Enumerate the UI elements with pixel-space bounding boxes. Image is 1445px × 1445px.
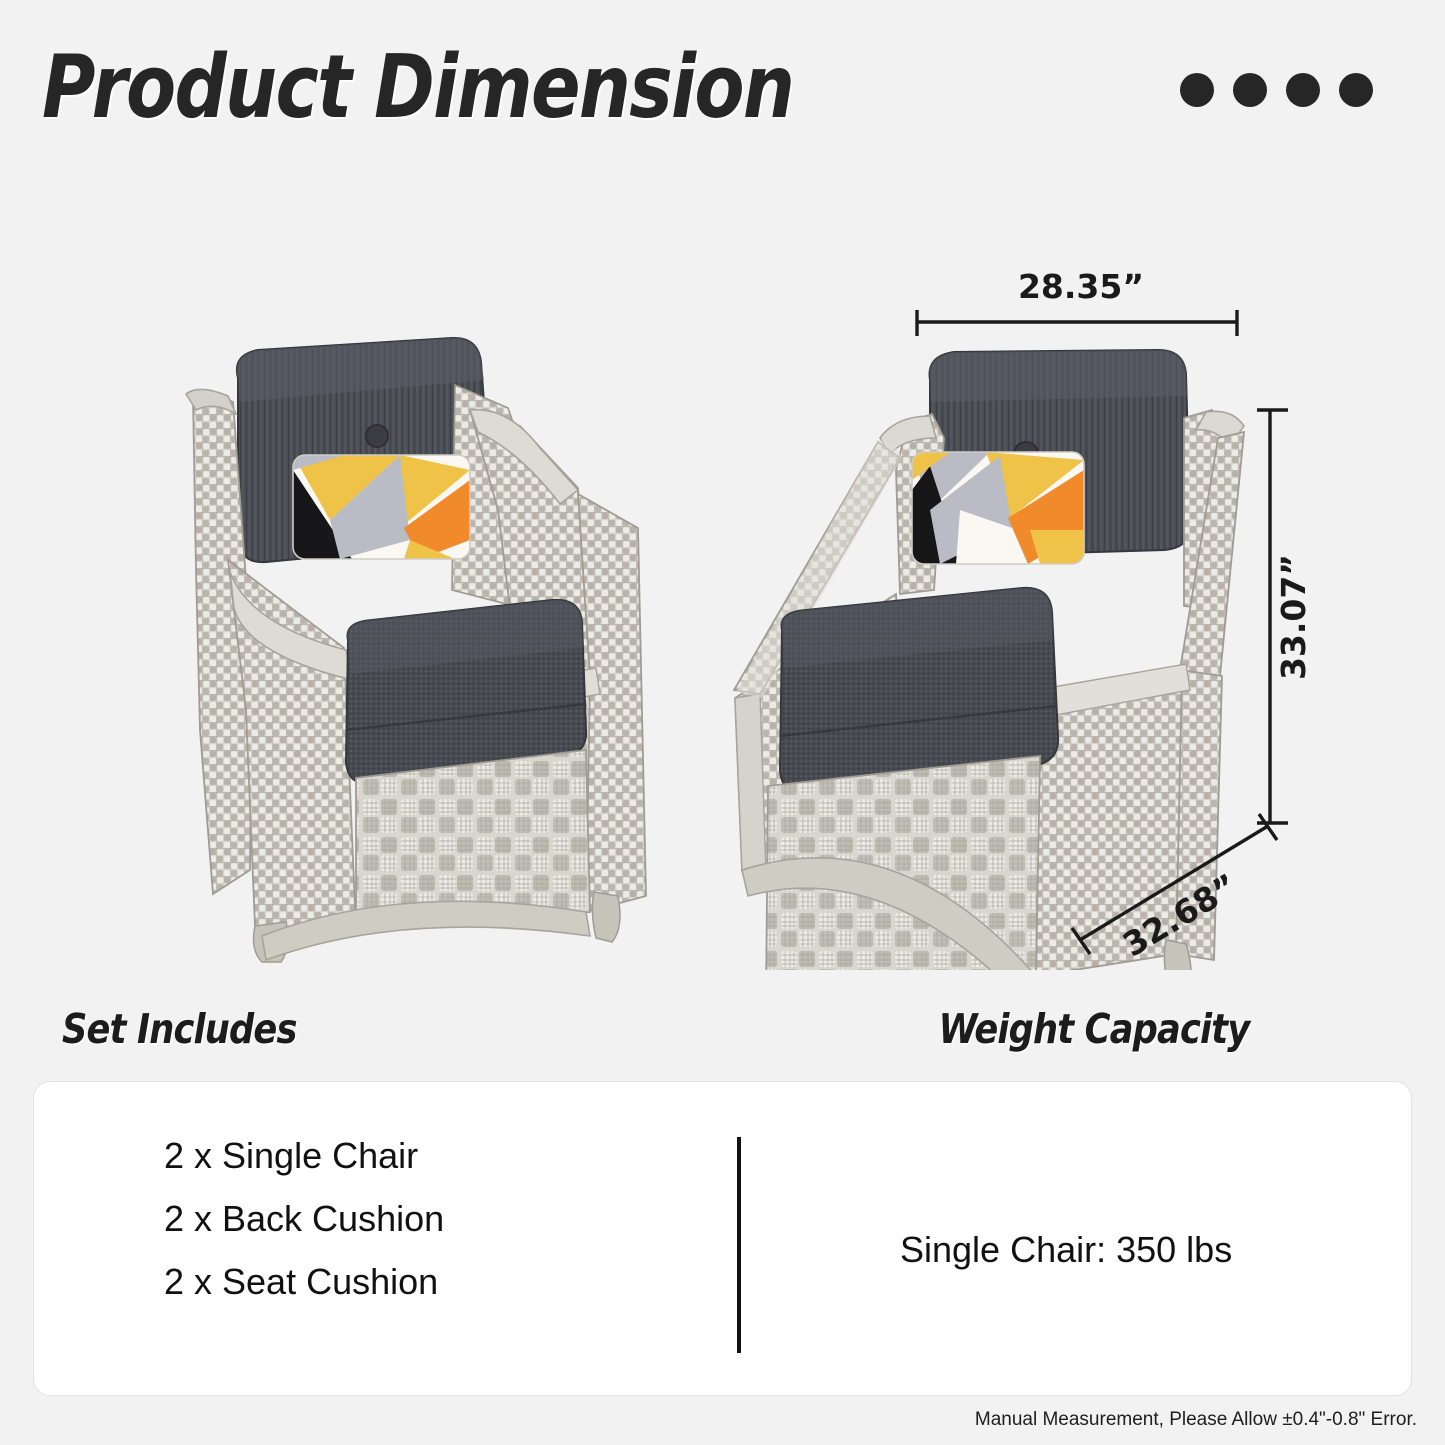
list-item: 2 x Seat Cushion — [164, 1264, 664, 1300]
cushion-button — [366, 425, 388, 447]
vertical-divider — [737, 1137, 741, 1353]
set-includes-heading: Set Includes — [62, 1005, 297, 1053]
page-title: Product Dimension — [42, 36, 793, 138]
accent-pillow-left — [293, 455, 470, 559]
weight-capacity-value: Single Chair: 350 lbs — [900, 1229, 1232, 1271]
weight-capacity-heading: Weight Capacity — [938, 1005, 1249, 1053]
list-item: 2 x Back Cushion — [164, 1201, 664, 1237]
chair-leg — [592, 892, 620, 942]
dot-decoration-group — [1180, 73, 1373, 107]
decorative-dot-icon — [1180, 73, 1214, 107]
chair-illustration-right — [734, 350, 1244, 970]
decorative-dot-icon — [1339, 73, 1373, 107]
dimension-label-height: 33.07” — [1274, 554, 1313, 680]
product-dimension-diagram: 28.35” 33.07” 32.68” — [0, 170, 1445, 970]
header: Product Dimension — [0, 0, 1445, 170]
accent-pillow-right — [912, 452, 1084, 564]
product-illustration-area: 28.35” 33.07” 32.68” — [0, 170, 1445, 970]
footer-disclaimer: Manual Measurement, Please Allow ±0.4"-0… — [975, 1409, 1417, 1431]
list-item: 2 x Single Chair — [164, 1138, 664, 1174]
decorative-dot-icon — [1286, 73, 1320, 107]
set-includes-list: 2 x Single Chair 2 x Back Cushion 2 x Se… — [164, 1138, 664, 1327]
decorative-dot-icon — [1233, 73, 1267, 107]
info-card: 2 x Single Chair 2 x Back Cushion 2 x Se… — [33, 1081, 1412, 1396]
chair-illustration-left — [186, 338, 646, 962]
info-card-inner: 2 x Single Chair 2 x Back Cushion 2 x Se… — [34, 1082, 1411, 1395]
dimension-label-width: 28.35” — [1018, 267, 1144, 306]
